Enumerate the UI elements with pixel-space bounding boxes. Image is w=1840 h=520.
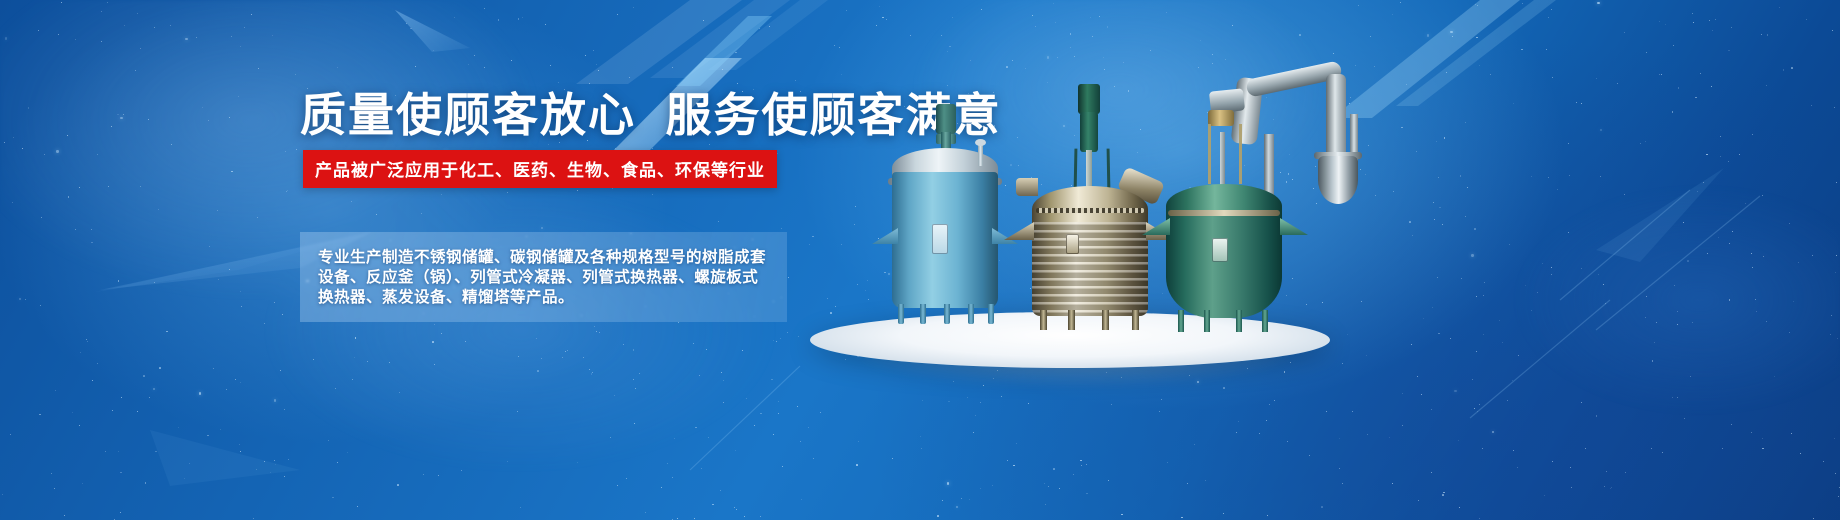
reactor-nozzle xyxy=(978,144,983,166)
reactor-legs xyxy=(896,304,994,326)
status-badge: 产品被广泛应用于化工、医药、生物、食品、环保等行业 xyxy=(303,150,777,188)
reactor3-legs xyxy=(1174,310,1274,334)
product-stainless-reactor xyxy=(1010,82,1170,332)
condenser-receiver-pot xyxy=(1318,156,1358,204)
reactor2-side-nozzle xyxy=(1016,178,1038,196)
reactor3-shaft xyxy=(1220,132,1225,188)
reactor2-motor-icon xyxy=(1078,84,1100,114)
reactor3-support-stand xyxy=(1208,124,1242,184)
reactor2-coupling xyxy=(1080,112,1098,152)
reactor2-bolt-ring xyxy=(1036,208,1144,213)
promo-banner: 质量使顾客放心 服务使顾客满意 产品被广泛应用于化工、医药、生物、食品、环保等行… xyxy=(0,0,1840,520)
description-line-3: 换热器、蒸发设备、精馏塔等产品。 xyxy=(318,288,773,308)
reactor3-sight-glass xyxy=(1212,238,1228,262)
description-text: 专业生产制造不锈钢储罐、碳钢储罐及各种规格型号的树脂成套 设备、反应釜（锅）、列… xyxy=(318,248,773,308)
reactor2-sight-glass xyxy=(1066,234,1079,254)
reactor-sight-glass xyxy=(932,224,948,254)
description-line-1: 专业生产制造不锈钢储罐、碳钢储罐及各种规格型号的树脂成套 xyxy=(318,248,773,268)
condenser-downcomer xyxy=(1326,74,1346,162)
reactor-motor-icon xyxy=(936,104,956,134)
reactor2-legs xyxy=(1038,310,1142,332)
product-blue-reactor xyxy=(880,100,1010,330)
description-line-2: 设备、反应釜（锅）、列管式冷凝器、列管式换热器、螺旋板式 xyxy=(318,268,773,288)
reactor2-coil-jacket xyxy=(1032,222,1148,316)
reactor3-shell xyxy=(1166,216,1282,318)
product-green-reactor xyxy=(1150,88,1300,334)
